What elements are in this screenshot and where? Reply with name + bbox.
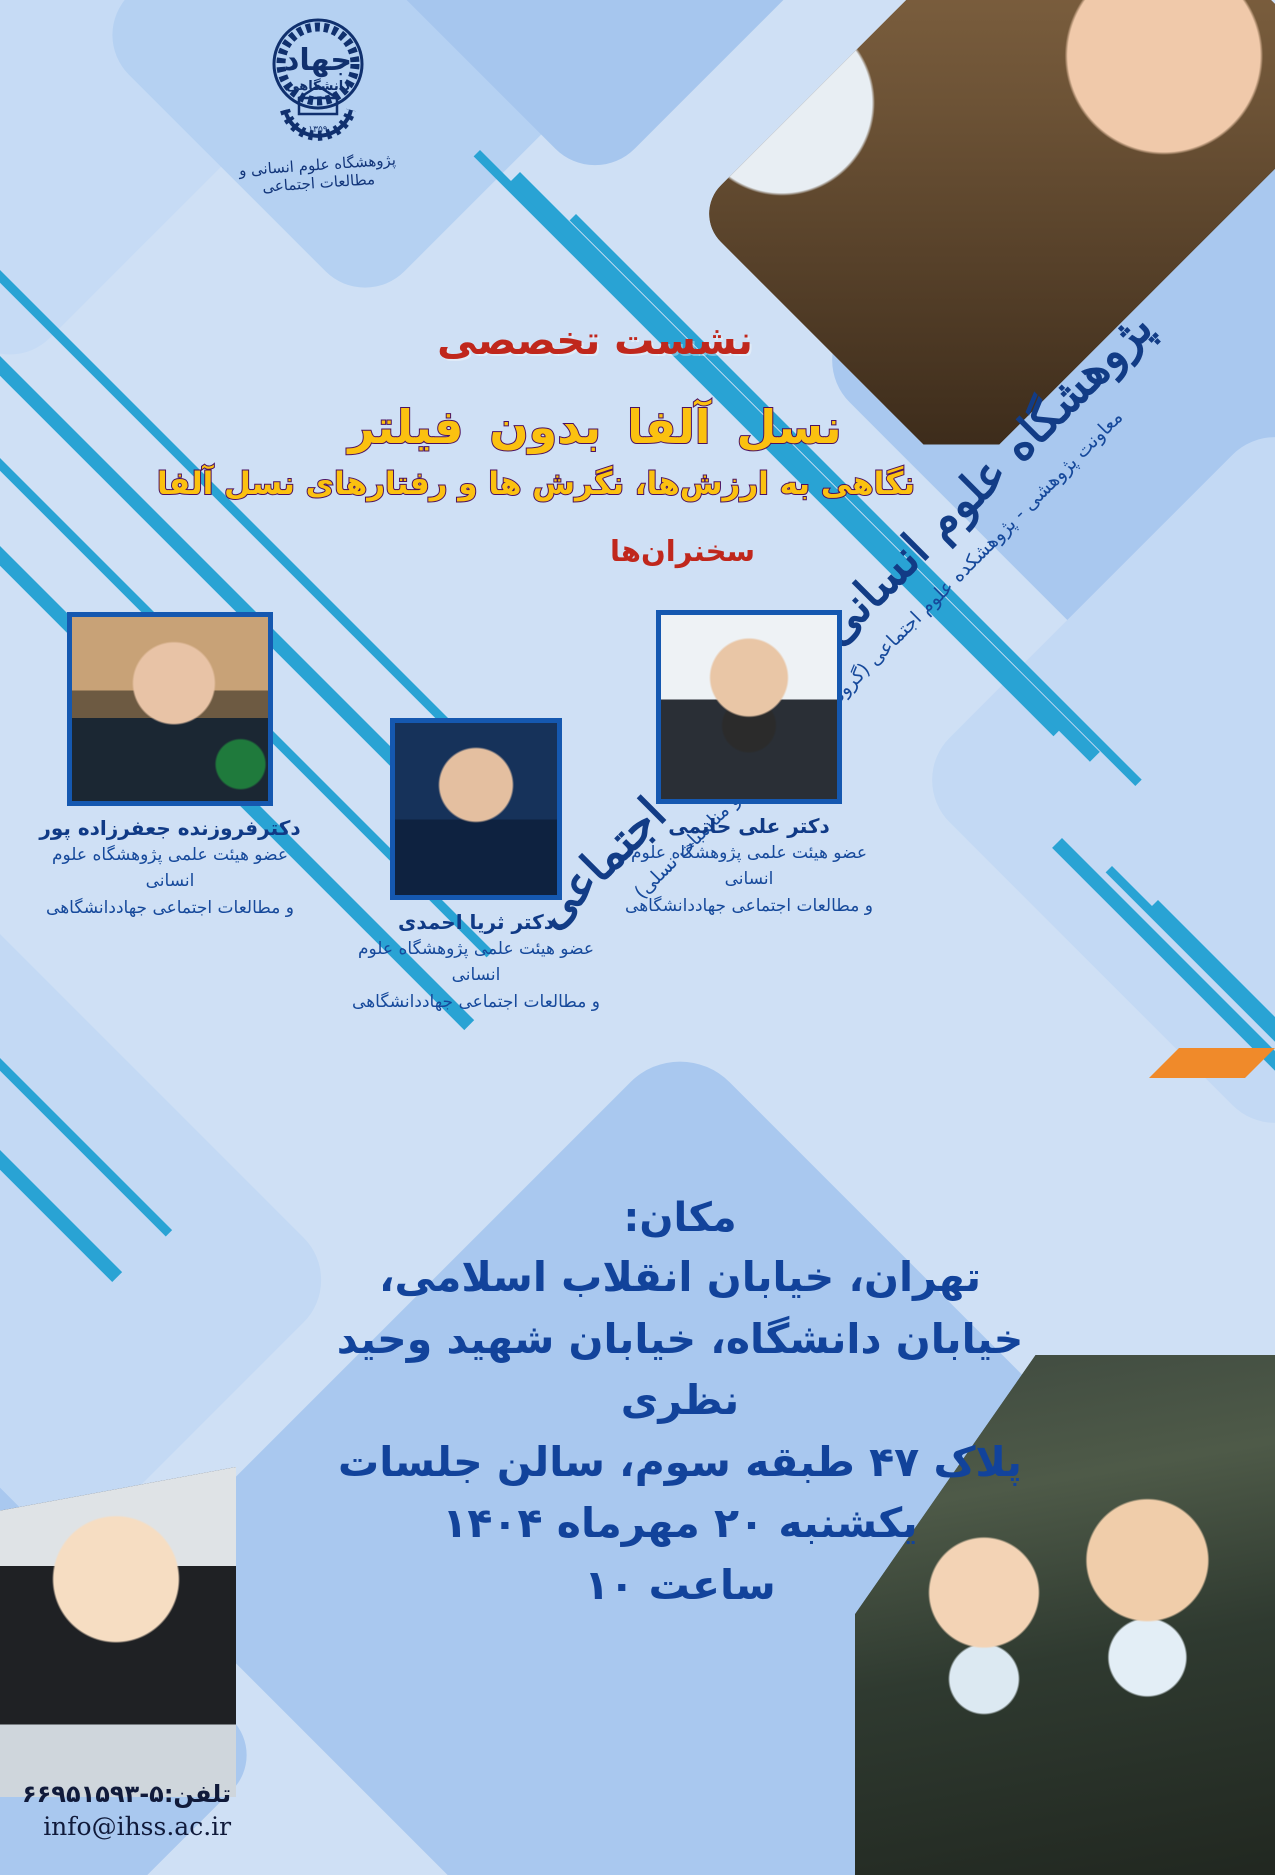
- heading-block: نشست تخصصی نسل آلفا بدون فیلتر نگاهی به …: [275, 318, 915, 502]
- speaker-photo-ahmadi: [390, 718, 562, 900]
- venue-address-line-2: خیابان دانشگاه، خیابان شهید وحید نظری: [330, 1309, 1030, 1432]
- jahad-daneshgahi-logo-icon: جهاد دانشگاهی ۱۳۵۹: [259, 14, 377, 142]
- svg-text:۱۳۵۹: ۱۳۵۹: [308, 125, 328, 135]
- page-subtitle: نگاهی به ارزش‌ها، نگرش ها و رفتارهای نسل…: [275, 466, 915, 502]
- speaker-name-hatami: دکتر علی حاتمی: [604, 813, 894, 840]
- speaker-card-ahmadi: دکتر ثریا احمدی عضو هیئت علمی پژوهشگاه ع…: [340, 718, 612, 1015]
- speaker-card-hatami: دکتر علی حاتمی عضو هیئت علمی پژوهشگاه عل…: [604, 610, 894, 919]
- speakers-section-label: سخنران‌ها: [610, 534, 755, 568]
- venue-address-line-3: پلاک ۴۷ طبقه سوم، سالن جلسات: [330, 1432, 1030, 1494]
- speaker-affiliation-jafarzadehpour-line2: و مطالعات اجتماعی جهاددانشگاهی: [36, 895, 304, 921]
- speaker-affiliation-hatami-line2: و مطالعات اجتماعی جهاددانشگاهی: [604, 893, 894, 919]
- meeting-kicker: نشست تخصصی: [275, 318, 915, 364]
- svg-text:جهاد: جهاد: [284, 43, 352, 78]
- event-time: ساعت ۱۰: [330, 1555, 1030, 1617]
- photo-toddler-tablet-image: [0, 1467, 236, 1797]
- speaker-affiliation-ahmadi-line2: و مطالعات اجتماعی جهاددانشگاهی: [340, 989, 612, 1015]
- speaker-name-jafarzadehpour: دکترفروزنده جعفرزاده پور: [36, 815, 304, 842]
- speaker-photo-jafarzadehpour: [67, 612, 273, 806]
- venue-block: مکان: تهران، خیابان انقلاب اسلامی، خیابا…: [330, 1195, 1030, 1616]
- contact-phone: تلفن:۵-۶۶۹۵۱۵۹۳: [22, 1780, 231, 1808]
- speaker-affiliation-jafarzadehpour-line1: عضو هیئت علمی پژوهشگاه علوم انسانی: [36, 842, 304, 895]
- venue-address-line-1: تهران، خیابان انقلاب اسلامی،: [330, 1247, 1030, 1309]
- event-date: یکشنبه ۲۰ مهرماه ۱۴۰۴: [330, 1493, 1030, 1555]
- speaker-photo-hatami: [656, 610, 842, 804]
- contact-block: تلفن:۵-۶۶۹۵۱۵۹۳ info@ihss.ac.ir: [22, 1780, 231, 1841]
- speaker-affiliation-ahmadi-line1: عضو هیئت علمی پژوهشگاه علوم انسانی: [340, 936, 612, 989]
- event-poster: جهاد دانشگاهی ۱۳۵۹ پژوهشگاه علوم انسانی …: [0, 0, 1275, 1875]
- organization-logo: جهاد دانشگاهی ۱۳۵۹ پژوهشگاه علوم انسانی …: [218, 14, 418, 192]
- photo-toddler-tablet: [0, 1467, 236, 1797]
- speaker-card-jafarzadehpour: دکترفروزنده جعفرزاده پور عضو هیئت علمی پ…: [36, 612, 304, 921]
- venue-label: مکان:: [330, 1195, 1030, 1241]
- speaker-affiliation-hatami-line1: عضو هیئت علمی پژوهشگاه علوم انسانی: [604, 840, 894, 893]
- contact-email[interactable]: info@ihss.ac.ir: [22, 1812, 231, 1841]
- page-title: نسل آلفا بدون فیلتر: [275, 400, 915, 454]
- logo-caption: پژوهشگاه علوم انسانی و مطالعات اجتماعی: [217, 149, 419, 199]
- speaker-name-ahmadi: دکتر ثریا احمدی: [340, 909, 612, 936]
